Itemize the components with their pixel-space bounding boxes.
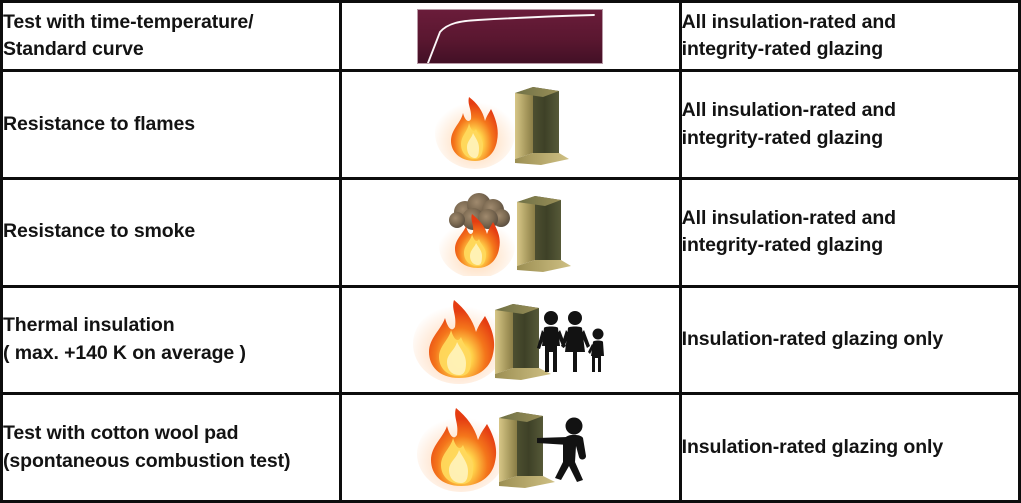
fire-test-criteria-table: Fire resistance test criteria and glazin…: [0, 0, 1021, 503]
scope-line: integrity-rated glazing: [682, 125, 1018, 153]
scope-line: integrity-rated glazing: [682, 36, 1018, 64]
scope-line: integrity-rated glazing: [682, 232, 1018, 260]
icon-label: Flame and wall with person touching it: [510, 492, 511, 493]
flame-wall-family-svg: [403, 296, 618, 384]
scope-cell-2: All insulation-rated and integrity-rated…: [680, 71, 1019, 179]
scope-line: All insulation-rated and: [682, 97, 1018, 125]
table-row: Test with cotton wool pad (spontaneous c…: [2, 394, 1020, 502]
criterion-line: Standard curve: [3, 36, 339, 64]
icon-label: Flame beside fire-rated wall: [510, 169, 511, 170]
icon-cell-3: Flame with smoke beside fire-rated wall: [341, 178, 680, 286]
criterion-cell-3: Resistance to smoke: [2, 178, 341, 286]
flame-wall-icon: [403, 81, 618, 169]
table-row: Thermal insulation ( max. +140 K on aver…: [2, 286, 1020, 394]
flame-wall-family-icon: [403, 296, 618, 384]
scope-cell-5: Insulation-rated glazing only: [680, 394, 1019, 502]
table-body: Test with time-temperature/ Standard cur…: [2, 2, 1020, 502]
criterion-cell-4: Thermal insulation ( max. +140 K on aver…: [2, 286, 341, 394]
flame-smoke-wall-svg: [403, 188, 618, 276]
family-silhouette: [537, 311, 604, 372]
scope-line: All insulation-rated and: [682, 205, 1018, 233]
scope-cell-1: All insulation-rated and integrity-rated…: [680, 2, 1019, 71]
icon-cell-4: Flame and wall protecting a family: [341, 286, 680, 394]
icon-label: Flame and wall protecting a family: [510, 384, 511, 385]
table-row: Resistance to flames: [2, 71, 1020, 179]
person-silhouette: [537, 417, 586, 482]
flame-wall-svg: [403, 81, 618, 169]
scope-line: Insulation-rated glazing only: [682, 326, 1018, 354]
criterion-line: (spontaneous combustion test): [3, 448, 339, 476]
icon-label: Flame with smoke beside fire-rated wall: [510, 276, 511, 277]
criterion-line: Test with cotton wool pad: [3, 420, 339, 448]
table-row: Test with time-temperature/ Standard cur…: [2, 2, 1020, 71]
icon-cell-1: Time-temperature standard curve chart: [341, 2, 680, 71]
scope-cell-4: Insulation-rated glazing only: [680, 286, 1019, 394]
flame-smoke-wall-icon: [403, 188, 618, 276]
criterion-line: Thermal insulation: [3, 312, 339, 340]
criterion-cell-1: Test with time-temperature/ Standard cur…: [2, 2, 341, 71]
criterion-line: Test with time-temperature/: [3, 9, 339, 37]
table-row: Resistance to smoke: [2, 178, 1020, 286]
scope-line: Insulation-rated glazing only: [682, 434, 1018, 462]
icon-cell-5: Flame and wall with person touching it: [341, 394, 680, 502]
scope-cell-3: All insulation-rated and integrity-rated…: [680, 178, 1019, 286]
icon-cell-2: Flame beside fire-rated wall: [341, 71, 680, 179]
curve-chart-svg: [418, 10, 602, 63]
time-temperature-curve-chart: [417, 9, 603, 64]
criterion-cell-2: Resistance to flames: [2, 71, 341, 179]
scope-line: All insulation-rated and: [682, 9, 1018, 37]
flame-wall-person-svg: [403, 404, 618, 492]
flame-wall-person-touching-icon: [403, 404, 618, 492]
criterion-line: Resistance to flames: [3, 111, 339, 139]
icon-label: Time-temperature standard curve chart: [510, 64, 511, 65]
criterion-cell-5: Test with cotton wool pad (spontaneous c…: [2, 394, 341, 502]
criterion-line: Resistance to smoke: [3, 218, 339, 246]
criterion-line: ( max. +140 K on average ): [3, 340, 339, 368]
